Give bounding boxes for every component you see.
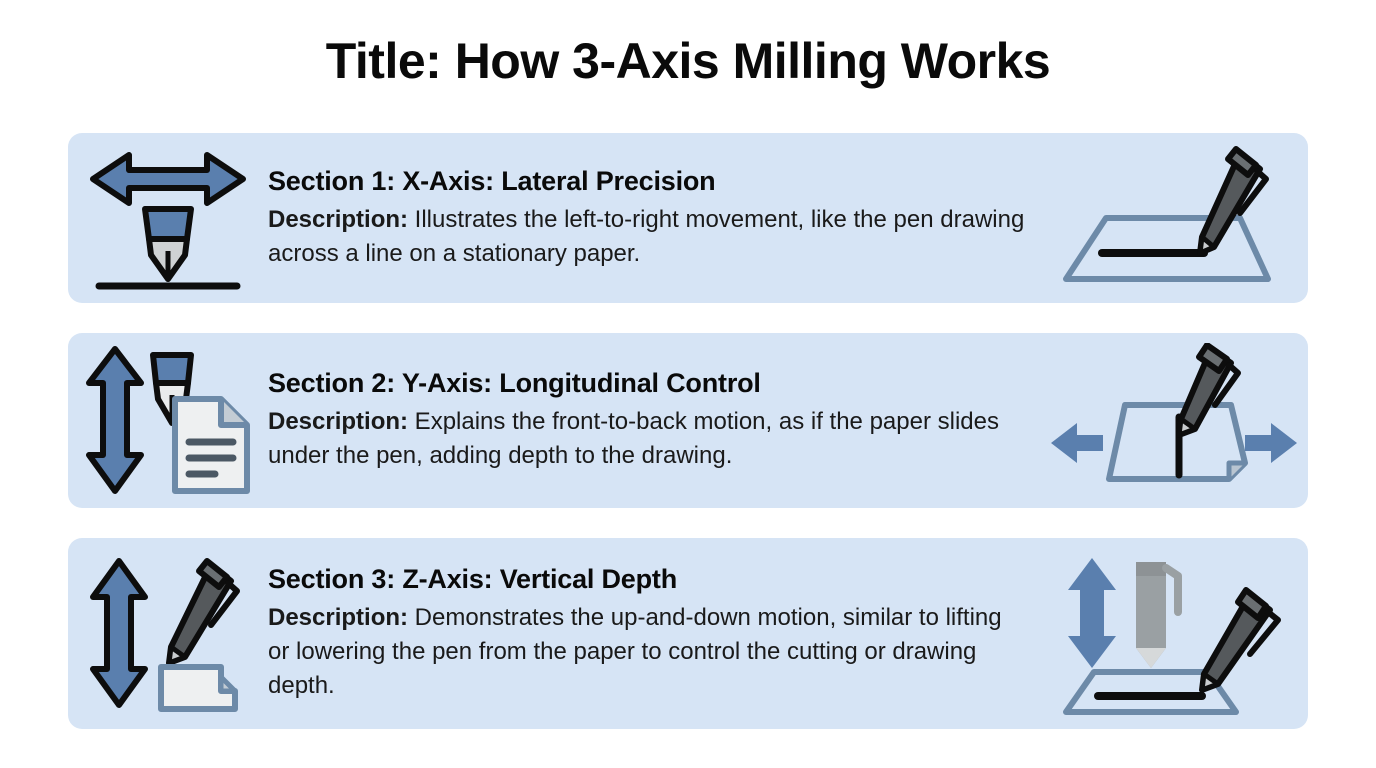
section-card-3: Section 3: Z-Axis: Vertical Depth Descri…: [68, 538, 1308, 729]
section-text-1: Section 1: X-Axis: Lateral Precision Des…: [268, 166, 1040, 271]
horizontal-double-arrow-pen-nib-icon: [68, 133, 268, 303]
section-description-3: Description: Demonstrates the up-and-dow…: [268, 601, 1028, 703]
pen-lifting-lowering-over-paper-icon: [1040, 538, 1308, 729]
paper-sliding-under-pen-with-side-arrows-icon: [1040, 333, 1308, 508]
section-heading-2: Section 2: Y-Axis: Longitudinal Control: [268, 368, 1028, 399]
section-text-3: Section 3: Z-Axis: Vertical Depth Descri…: [268, 564, 1040, 703]
page-title: Title: How 3-Axis Milling Works: [0, 32, 1376, 90]
section-description-2: Description: Explains the front-to-back …: [268, 405, 1028, 473]
description-label-2: Description:: [268, 408, 408, 435]
pen-drawing-horizontal-line-on-paper-icon: [1040, 133, 1308, 303]
description-label-1: Description:: [268, 206, 408, 233]
section-card-2: Section 2: Y-Axis: Longitudinal Control …: [68, 333, 1308, 508]
description-label-3: Description:: [268, 604, 408, 631]
vertical-double-arrow-pen-paper-icon: [68, 538, 268, 729]
vertical-double-arrow-pen-nib-document-icon: [68, 333, 268, 508]
sections-list: Section 1: X-Axis: Lateral Precision Des…: [68, 133, 1308, 759]
section-heading-1: Section 1: X-Axis: Lateral Precision: [268, 166, 1028, 197]
section-text-2: Section 2: Y-Axis: Longitudinal Control …: [268, 368, 1040, 473]
section-heading-3: Section 3: Z-Axis: Vertical Depth: [268, 564, 1028, 595]
section-card-1: Section 1: X-Axis: Lateral Precision Des…: [68, 133, 1308, 303]
section-description-1: Description: Illustrates the left-to-rig…: [268, 203, 1028, 271]
infographic-page: Title: How 3-Axis Milling Works Secti: [0, 0, 1376, 768]
